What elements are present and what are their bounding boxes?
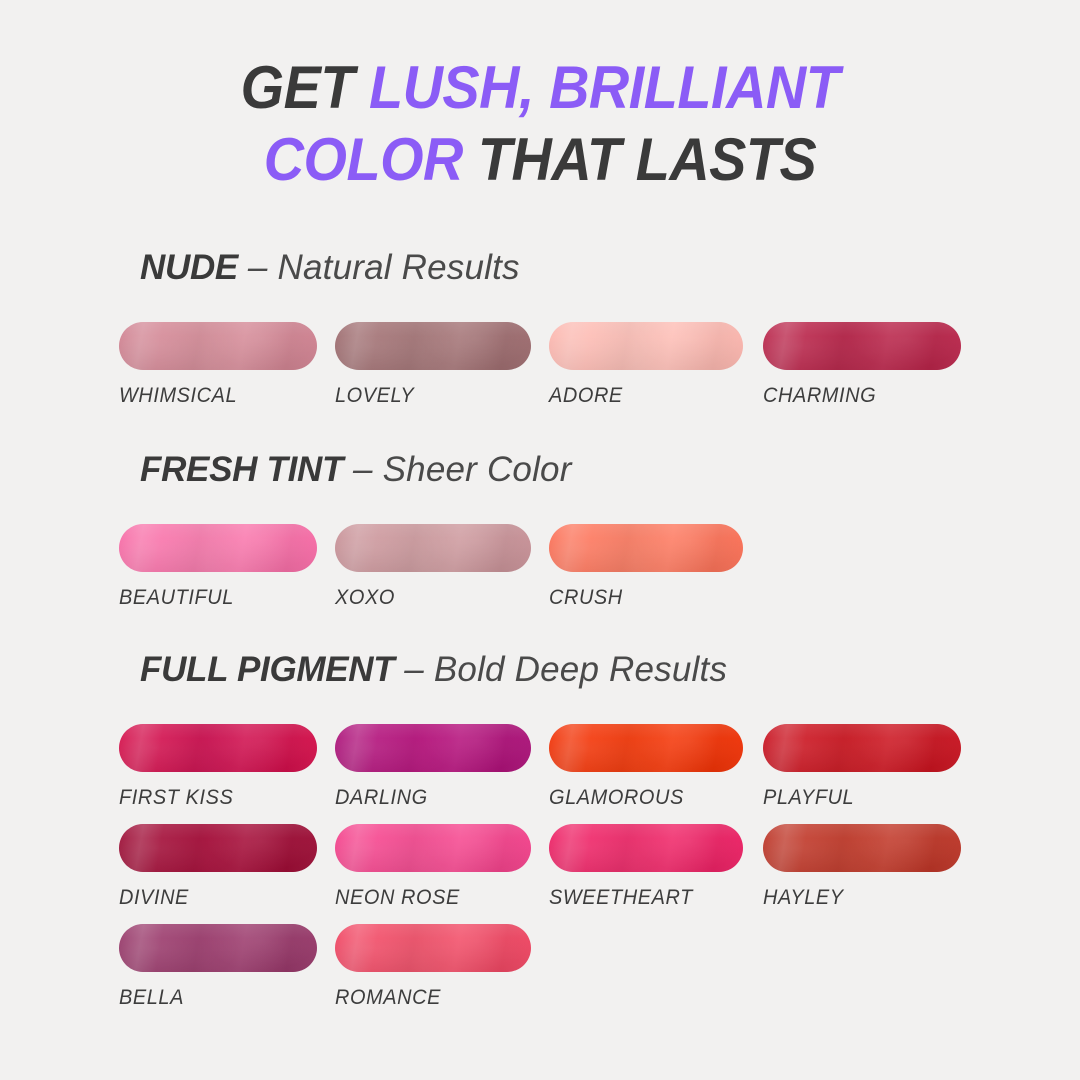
swatch-cell[interactable]: CRUSH bbox=[549, 524, 743, 610]
section-heading-strong: FRESH TINT bbox=[140, 450, 343, 489]
swatch-label: CHARMING bbox=[763, 384, 951, 408]
headline-line-1: GET LUSH, BRILLIANT bbox=[38, 52, 1042, 124]
swatch-cell[interactable]: CHARMING bbox=[763, 322, 961, 408]
swatch-label: ADORE bbox=[549, 384, 733, 408]
headline-lush-brilliant: LUSH, BRILLIANT bbox=[369, 54, 839, 121]
swatch-cell[interactable]: LOVELY bbox=[335, 322, 531, 408]
swatch-cell[interactable]: PLAYFUL bbox=[763, 724, 961, 810]
color-swatch[interactable] bbox=[119, 724, 317, 772]
swatch-cell[interactable]: WHIMSICAL bbox=[119, 322, 317, 408]
color-swatch[interactable] bbox=[763, 322, 961, 370]
headline-color: COLOR bbox=[264, 126, 463, 193]
swatch-cell[interactable]: FIRST KISS bbox=[119, 724, 317, 810]
swatch-cell[interactable]: BEAUTIFUL bbox=[119, 524, 317, 610]
swatch-label: DIVINE bbox=[119, 886, 307, 910]
section-heading-soft: – Bold Deep Results bbox=[394, 650, 727, 689]
color-swatch[interactable] bbox=[763, 824, 961, 872]
section-heading-soft: – Sheer Color bbox=[343, 450, 571, 489]
section-heading-full-pigment: FULL PIGMENT – Bold Deep Results bbox=[140, 650, 727, 690]
color-swatch[interactable] bbox=[549, 524, 743, 572]
headline-that-lasts: THAT LASTS bbox=[463, 126, 816, 193]
color-swatch[interactable] bbox=[335, 322, 531, 370]
color-swatch[interactable] bbox=[119, 924, 317, 972]
swatch-label: SWEETHEART bbox=[549, 886, 733, 910]
swatch-cell[interactable]: XOXO bbox=[335, 524, 531, 610]
swatch-label: ROMANCE bbox=[335, 986, 521, 1010]
swatch-cell[interactable]: GLAMOROUS bbox=[549, 724, 743, 810]
swatch-cell[interactable]: BELLA bbox=[119, 924, 317, 1010]
swatch-label: NEON ROSE bbox=[335, 886, 521, 910]
color-swatch[interactable] bbox=[335, 924, 531, 972]
section-heading-soft: – Natural Results bbox=[238, 248, 520, 287]
swatch-cell[interactable]: DIVINE bbox=[119, 824, 317, 910]
swatch-label: BEAUTIFUL bbox=[119, 586, 307, 610]
swatch-label: HAYLEY bbox=[763, 886, 951, 910]
color-swatch[interactable] bbox=[549, 724, 743, 772]
color-swatch[interactable] bbox=[763, 724, 961, 772]
headline-line-2: COLOR THAT LASTS bbox=[38, 124, 1042, 196]
color-swatch[interactable] bbox=[335, 824, 531, 872]
section-heading-fresh-tint: FRESH TINT – Sheer Color bbox=[140, 450, 572, 490]
section-heading-nude: NUDE – Natural Results bbox=[140, 248, 520, 288]
swatch-cell[interactable]: HAYLEY bbox=[763, 824, 961, 910]
poster-canvas: GET LUSH, BRILLIANT COLOR THAT LASTS NUD… bbox=[0, 0, 1080, 1080]
swatch-label: CRUSH bbox=[549, 586, 733, 610]
swatch-label: BELLA bbox=[119, 986, 307, 1010]
swatch-label: XOXO bbox=[335, 586, 521, 610]
swatch-row: BELLAROMANCE bbox=[0, 924, 1080, 1024]
color-swatch[interactable] bbox=[335, 524, 531, 572]
color-swatch[interactable] bbox=[549, 322, 743, 370]
swatch-label: FIRST KISS bbox=[119, 786, 307, 810]
page-title: GET LUSH, BRILLIANT COLOR THAT LASTS bbox=[38, 52, 1042, 196]
swatch-label: PLAYFUL bbox=[763, 786, 951, 810]
color-swatch[interactable] bbox=[119, 322, 317, 370]
color-swatch[interactable] bbox=[549, 824, 743, 872]
swatch-row: FIRST KISSDARLINGGLAMOROUSPLAYFUL bbox=[0, 724, 1080, 824]
swatch-row: DIVINENEON ROSESWEETHEARTHAYLEY bbox=[0, 824, 1080, 924]
section-heading-strong: NUDE bbox=[140, 248, 238, 287]
swatch-cell[interactable]: DARLING bbox=[335, 724, 531, 810]
swatch-cell[interactable]: SWEETHEART bbox=[549, 824, 743, 910]
swatch-row: BEAUTIFULXOXOCRUSH bbox=[0, 524, 1080, 624]
swatch-row: WHIMSICALLOVELYADORECHARMING bbox=[0, 322, 1080, 422]
color-swatch[interactable] bbox=[119, 524, 317, 572]
swatch-cell[interactable]: ADORE bbox=[549, 322, 743, 408]
swatch-label: DARLING bbox=[335, 786, 521, 810]
swatch-label: GLAMOROUS bbox=[549, 786, 733, 810]
swatch-cell[interactable]: NEON ROSE bbox=[335, 824, 531, 910]
headline-get: GET bbox=[241, 54, 369, 121]
swatch-label: LOVELY bbox=[335, 384, 521, 408]
swatch-cell[interactable]: ROMANCE bbox=[335, 924, 531, 1010]
color-swatch[interactable] bbox=[335, 724, 531, 772]
color-swatch[interactable] bbox=[119, 824, 317, 872]
swatch-label: WHIMSICAL bbox=[119, 384, 307, 408]
section-heading-strong: FULL PIGMENT bbox=[140, 650, 394, 689]
